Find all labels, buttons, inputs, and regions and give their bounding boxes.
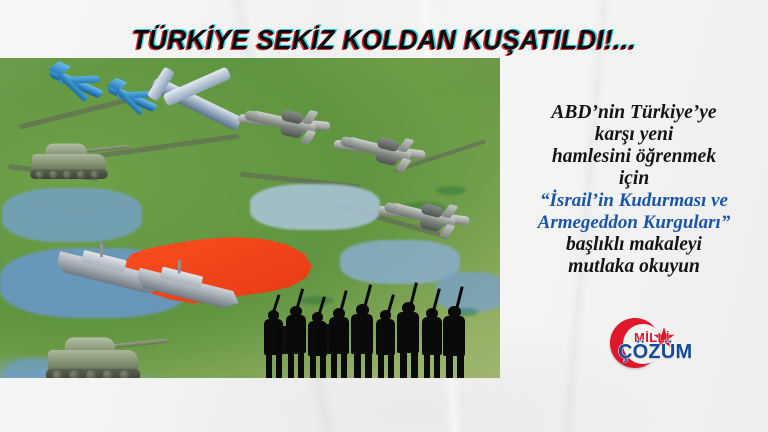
soldier-leg [378,353,384,378]
headline-area: TÜRKİYE SEKİZ KOLDAN KUŞATILDI!... [0,24,768,56]
soldier-leg [354,352,361,378]
soldier-leg [434,352,440,378]
soldier-leg [266,353,272,378]
photo-collage [0,58,500,378]
soldier-leg [457,354,464,378]
soldier-leg [388,353,394,378]
copy-line-1: ABD’nin Türkiye’ye [500,102,768,124]
soldier-leg [320,354,326,378]
sea-area [436,272,500,312]
soldier-leg [424,352,430,378]
soldier-leg [411,351,418,378]
soldier-leg [310,354,316,378]
sea-area [250,184,380,230]
soldier-group-mass [276,326,306,354]
soldier-leg [446,354,453,378]
page-title: TÜRKİYE SEKİZ KOLDAN KUŞATILDI!... [132,24,636,56]
article-title-line-1[interactable]: “İsrail’in Kudurması ve [500,190,768,212]
soldier-leg [331,352,337,378]
copy-line-7: başlıklı makaleyi [500,234,768,256]
soldier-leg [400,351,407,378]
vegetation-patch [300,296,334,305]
copy-line-2: karşı yeni [500,124,768,146]
soldier-leg [276,353,282,378]
milli-cozum-logo[interactable]: MİLLİ ÇÖZÜM [604,316,708,374]
soldier-leg [298,351,304,378]
poster-canvas: TÜRKİYE SEKİZ KOLDAN KUŞATILDI!... ABD’n… [0,0,768,432]
soldier-torso [422,317,442,355]
soldier-leg [341,352,347,378]
copy-line-8: mutlaka okuyun [500,256,768,278]
sea-area [2,188,142,242]
vegetation-patch [436,186,466,195]
article-title-line-2[interactable]: Armegeddon Kurguları” [500,212,768,234]
copy-line-4: için [500,168,768,190]
logo-bottom-word: ÇÖZÜM [618,341,692,364]
soldier-leg [365,352,372,378]
promo-copy: ABD’nin Türkiye’ye karşı yeni hamlesini … [500,102,768,278]
soldier-leg [288,351,294,378]
soldier-group-mass [318,324,346,354]
copy-line-3: hamlesini öğrenmek [500,146,768,168]
